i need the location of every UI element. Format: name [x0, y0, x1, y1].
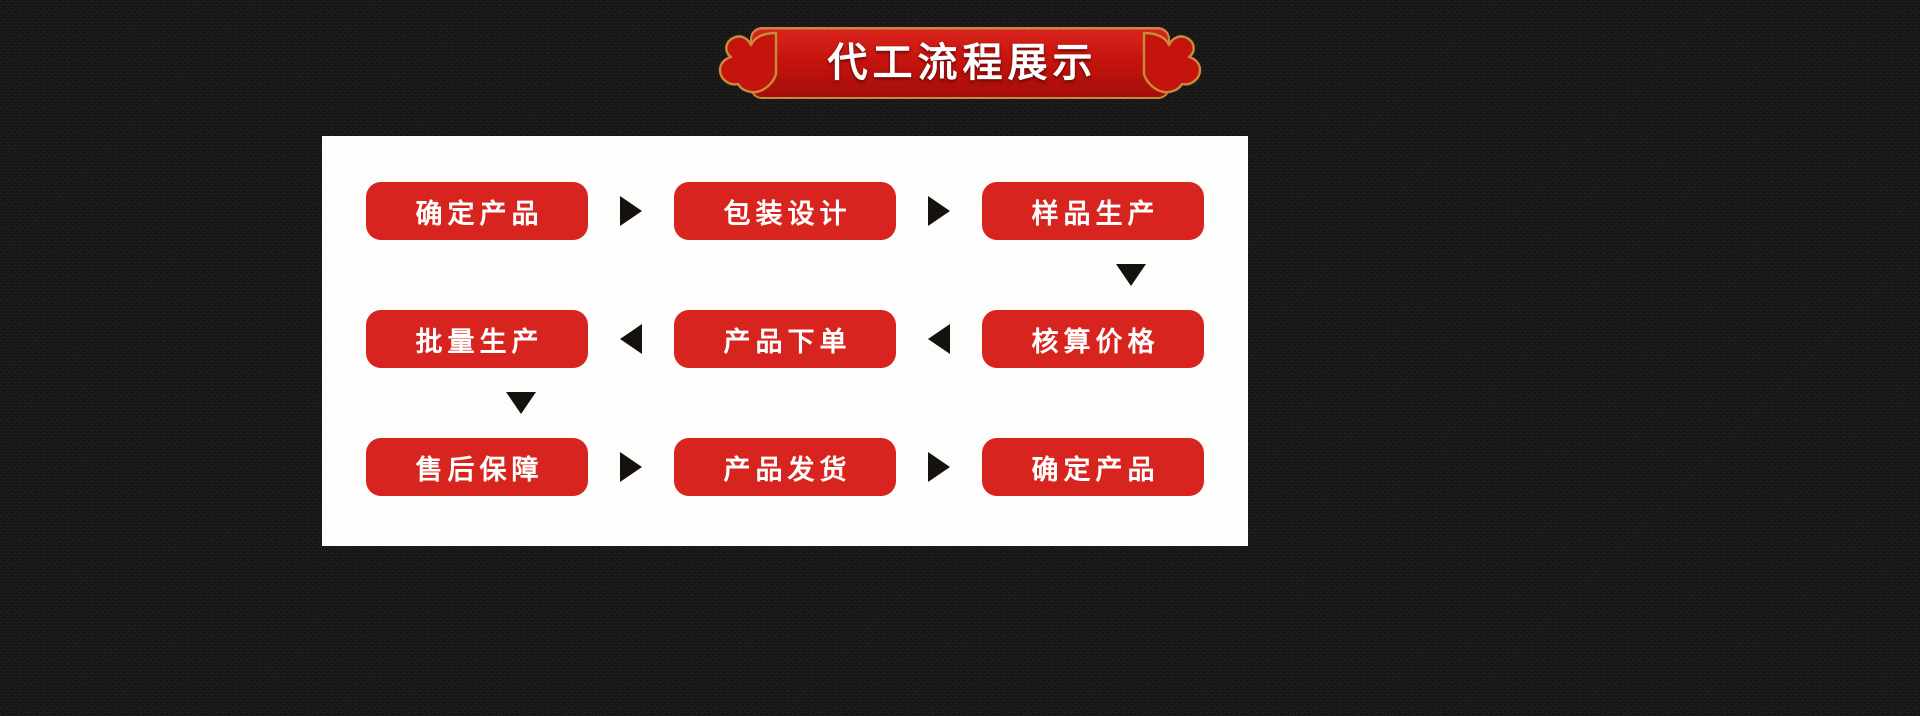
connector-arrow-down-col1	[501, 386, 541, 420]
flow-row-2: 批量生产 产品下单 核算价格	[366, 310, 1204, 368]
connector-arrow-right-4	[919, 438, 959, 496]
title-banner-container: 代工流程展示	[0, 27, 1920, 99]
connector-arrow-left-2	[919, 310, 959, 368]
connector-arrow-right-1	[611, 182, 651, 240]
flow-diagram: 确定产品 包装设计 样品生产 批量生产 产品下单 核算价格 售后保障 产品发货	[322, 136, 1248, 546]
flow-step-7[interactable]: 售后保障	[366, 438, 588, 496]
connector-arrow-left-1	[611, 310, 651, 368]
vertical-connector-row-1	[366, 240, 1204, 310]
connector-arrow-down-col3	[1111, 258, 1151, 292]
vertical-connector-row-2	[366, 368, 1204, 438]
flow-step-1[interactable]: 确定产品	[366, 182, 588, 240]
flow-step-9[interactable]: 确定产品	[982, 438, 1204, 496]
connector-arrow-right-3	[611, 438, 651, 496]
flow-step-3[interactable]: 样品生产	[982, 182, 1204, 240]
flow-row-3: 售后保障 产品发货 确定产品	[366, 438, 1204, 496]
flow-step-8[interactable]: 产品发货	[674, 438, 896, 496]
flow-step-5[interactable]: 产品下单	[674, 310, 896, 368]
flow-row-1: 确定产品 包装设计 样品生产	[366, 182, 1204, 240]
flow-step-4[interactable]: 核算价格	[982, 310, 1204, 368]
flow-step-2[interactable]: 包装设计	[674, 182, 896, 240]
flow-step-6[interactable]: 批量生产	[366, 310, 588, 368]
flow-card: 确定产品 包装设计 样品生产 批量生产 产品下单 核算价格 售后保障 产品发货	[322, 136, 1248, 546]
connector-arrow-right-2	[919, 182, 959, 240]
title-banner: 代工流程展示	[716, 27, 1204, 99]
page-title: 代工流程展示	[823, 43, 1098, 83]
